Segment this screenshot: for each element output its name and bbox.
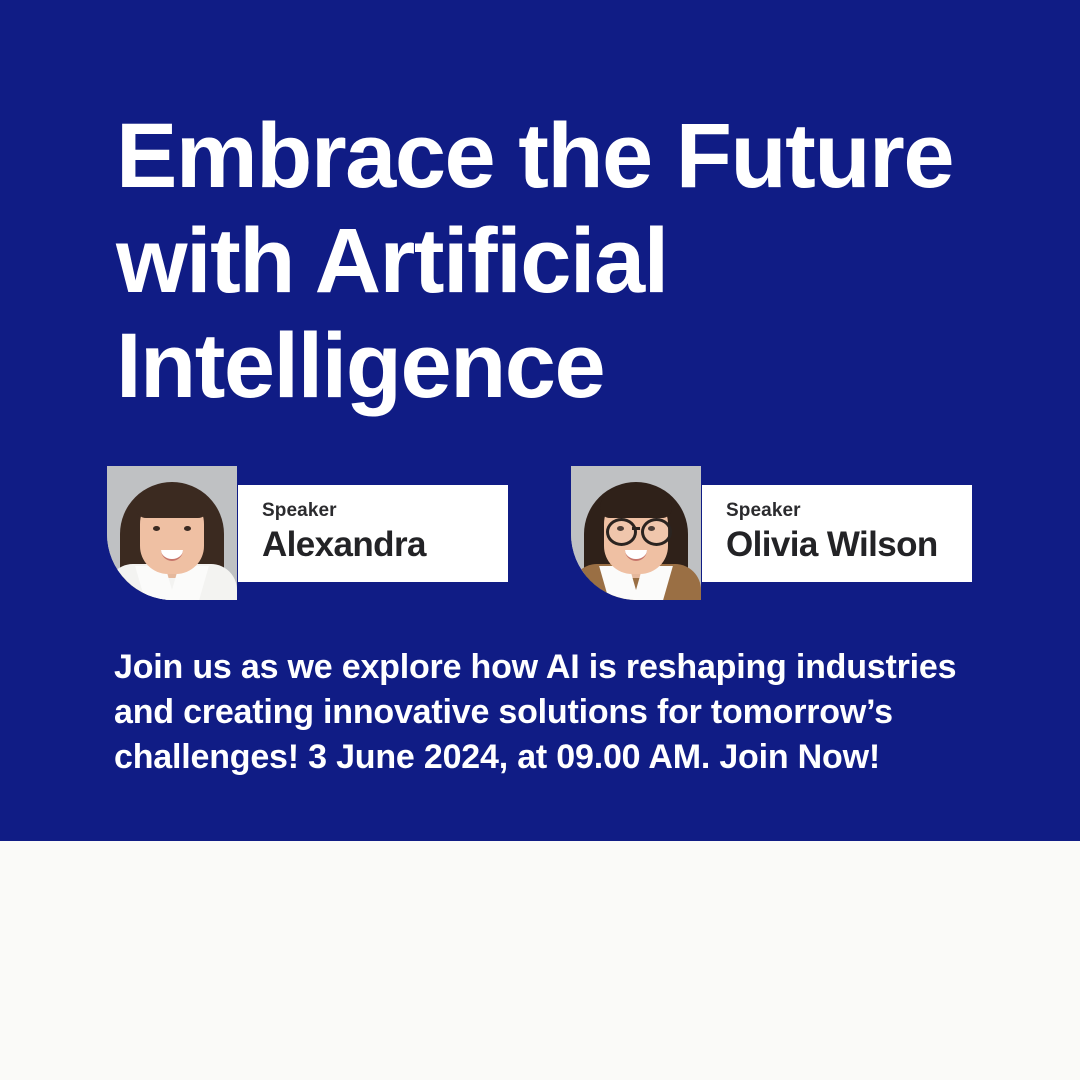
portrait-illustration: [107, 466, 237, 600]
speaker-list: Speaker Alexandra: [0, 466, 1080, 602]
fringe-shape: [136, 488, 208, 518]
speaker-name-plate: Speaker Alexandra: [238, 485, 508, 582]
eye-left-shape: [153, 526, 160, 531]
glasses-right-icon: [641, 518, 672, 546]
footer-section: Capcut Free Registration! Follow our soc…: [0, 841, 1080, 1080]
portrait-illustration: [571, 466, 701, 600]
glasses-left-icon: [606, 518, 637, 546]
eye-right-shape: [184, 526, 191, 531]
hero-section: Embrace the Future with Artificial Intel…: [0, 0, 1080, 841]
avatar: [571, 466, 701, 600]
speaker-role-label: Speaker: [726, 499, 962, 523]
speaker-name-label: Olivia Wilson: [726, 524, 962, 566]
fringe-shape: [600, 488, 672, 518]
page-title: Embrace the Future with Artificial Intel…: [116, 104, 1016, 419]
event-description: Join us as we explore how AI is reshapin…: [114, 645, 994, 780]
speaker-role-label: Speaker: [262, 499, 498, 523]
avatar: [107, 466, 237, 600]
event-announcement-poster: Embrace the Future with Artificial Intel…: [0, 0, 1080, 1080]
glasses-bridge-icon: [632, 527, 640, 530]
speaker-name-label: Alexandra: [262, 524, 498, 566]
speaker-name-plate: Speaker Olivia Wilson: [702, 485, 972, 582]
